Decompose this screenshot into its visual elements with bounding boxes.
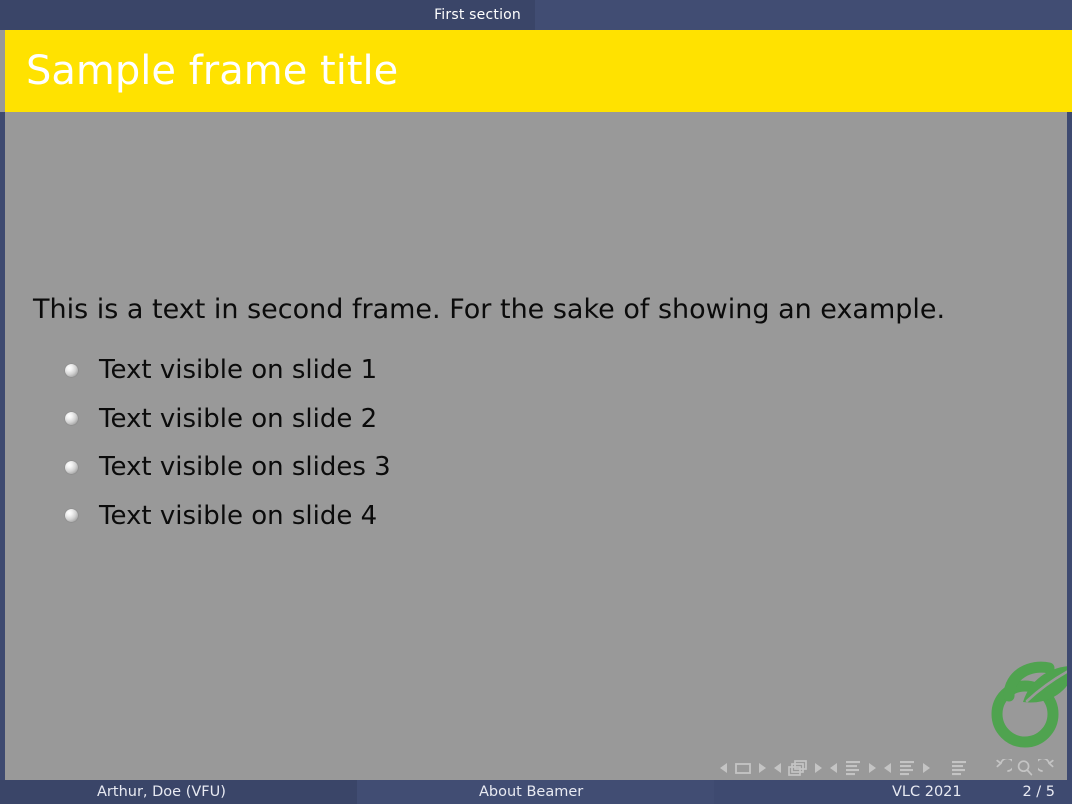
search-icon[interactable] xyxy=(1016,759,1034,777)
bullet-list: Text visible on slide 1 Text visible on … xyxy=(65,346,391,540)
list-item: Text visible on slides 3 xyxy=(65,443,391,492)
subsection-icon[interactable] xyxy=(842,759,864,777)
footer-title-label: About Beamer xyxy=(479,784,583,800)
frame-edge-right xyxy=(1067,112,1072,780)
footer-meta-cell: VLC 2021 2 / 5 xyxy=(714,780,1072,804)
forward-icon[interactable] xyxy=(1038,759,1058,777)
navsym-slide-group[interactable] xyxy=(716,760,770,776)
list-item-label: Text visible on slide 4 xyxy=(99,503,377,529)
beamer-navigation-symbols[interactable] xyxy=(716,759,1058,777)
frame-title: Sample frame title xyxy=(26,51,398,91)
footer-author-cell: Arthur, Doe (VFU) xyxy=(0,780,357,804)
slide-next-icon[interactable] xyxy=(754,760,770,776)
presentation-icon[interactable] xyxy=(948,759,970,777)
beamer-slide: First section Sample frame title This is… xyxy=(0,0,1072,804)
list-item: Text visible on slide 2 xyxy=(65,395,391,444)
subsection-previous-icon[interactable] xyxy=(826,760,842,776)
bullet-ball-icon xyxy=(65,509,78,522)
nav-section-first-section[interactable]: First section xyxy=(0,0,535,30)
list-item-label: Text visible on slides 3 xyxy=(99,454,391,480)
frame-previous-icon[interactable] xyxy=(770,760,786,776)
title-bar-left-edge xyxy=(0,30,5,112)
frame-next-icon[interactable] xyxy=(810,760,826,776)
list-item-label: Text visible on slide 2 xyxy=(99,406,377,432)
nav-section-remaining[interactable] xyxy=(535,0,1072,30)
footer-date-label: VLC 2021 xyxy=(892,784,962,800)
list-item: Text visible on slide 1 xyxy=(65,346,391,395)
navsym-frame-group[interactable] xyxy=(770,759,826,777)
section-next-icon[interactable] xyxy=(918,760,934,776)
footer-author-label: Arthur, Doe (VFU) xyxy=(97,784,226,800)
subsection-next-icon[interactable] xyxy=(864,760,880,776)
section-icon[interactable] xyxy=(896,759,918,777)
slide-icon[interactable] xyxy=(732,760,754,776)
nav-section-label: First section xyxy=(434,7,521,23)
frame-title-bar: Sample frame title xyxy=(0,30,1072,112)
navsym-subsection-group[interactable] xyxy=(826,759,880,777)
list-item-label: Text visible on slide 1 xyxy=(99,357,377,383)
bullet-ball-icon xyxy=(65,461,78,474)
list-item: Text visible on slide 4 xyxy=(65,492,391,541)
intro-paragraph: This is a text in second frame. For the … xyxy=(33,295,945,325)
bullet-ball-icon xyxy=(65,364,78,377)
slide-previous-icon[interactable] xyxy=(716,760,732,776)
footer-bar: Arthur, Doe (VFU) About Beamer VLC 2021 … xyxy=(0,780,1072,804)
footer-page-number: 2 / 5 xyxy=(1022,784,1055,800)
overleaf-logo xyxy=(987,656,1067,748)
navsym-section-group[interactable] xyxy=(880,759,934,777)
navigation-bar: First section xyxy=(0,0,1072,30)
section-previous-icon[interactable] xyxy=(880,760,896,776)
frame-icon[interactable] xyxy=(786,759,810,777)
footer-title-cell: About Beamer xyxy=(357,780,714,804)
bullet-ball-icon xyxy=(65,412,78,425)
slide-body: This is a text in second frame. For the … xyxy=(5,112,1067,780)
back-icon[interactable] xyxy=(992,759,1012,777)
